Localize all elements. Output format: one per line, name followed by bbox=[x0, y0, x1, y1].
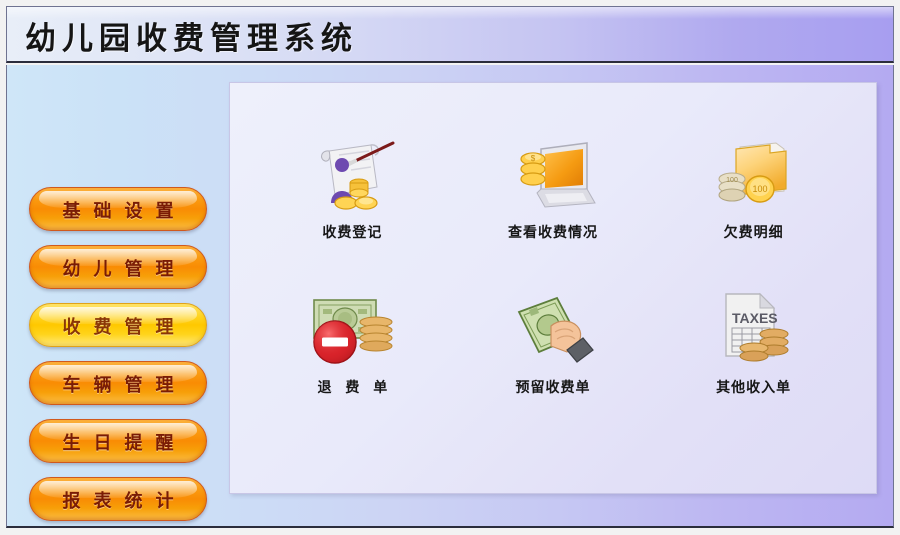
taxes-document-coins-icon: TAXES bbox=[653, 290, 854, 368]
app-icon-label: 查看收费情况 bbox=[453, 222, 654, 242]
sidebar-item-label: 车 辆 管 理 bbox=[30, 371, 206, 397]
app-icon-fee-registration[interactable]: 收费登记 bbox=[252, 135, 453, 242]
app-icon-label: 其他收入单 bbox=[653, 377, 854, 397]
laptop-coins-icon: $ bbox=[453, 135, 654, 213]
sidebar-item-basic-settings[interactable]: 基 础 设 置 bbox=[29, 187, 207, 231]
sidebar-item-child-management[interactable]: 幼 儿 管 理 bbox=[29, 245, 207, 289]
sidebar-item-label: 幼 儿 管 理 bbox=[30, 255, 206, 281]
svg-text:$: $ bbox=[531, 154, 536, 163]
hand-banknote-icon bbox=[453, 290, 654, 368]
taxes-label: TAXES bbox=[732, 310, 778, 326]
application-window: 幼儿园收费管理系统 基 础 设 置 幼 儿 管 理 收 费 管 理 车 辆 管 … bbox=[0, 0, 900, 535]
folder-coins-icon: 100 100 bbox=[653, 135, 854, 213]
sidebar-item-birthday-reminder[interactable]: 生 日 提 醒 bbox=[29, 419, 207, 463]
sidebar-item-label: 生 日 提 醒 bbox=[30, 429, 206, 455]
sidebar-item-label: 收 费 管 理 bbox=[30, 313, 206, 339]
app-icon-refund-form[interactable]: 退 费 单 bbox=[252, 290, 453, 397]
svg-text:100: 100 bbox=[726, 177, 738, 184]
page-title: 幼儿园收费管理系统 bbox=[25, 13, 358, 58]
content-panel: 收费登记 bbox=[229, 82, 877, 494]
app-icon-label: 收费登记 bbox=[252, 222, 453, 242]
app-icon-label: 预留收费单 bbox=[453, 377, 654, 397]
scroll-person-coins-icon bbox=[252, 135, 453, 213]
app-icon-other-income-form[interactable]: TAXES bbox=[653, 290, 854, 397]
sidebar-item-report-statistics[interactable]: 报 表 统 计 bbox=[29, 477, 207, 521]
sidebar-item-vehicle-management[interactable]: 车 辆 管 理 bbox=[29, 361, 207, 405]
sidebar-item-label: 基 础 设 置 bbox=[30, 197, 206, 223]
app-icon-arrears-details[interactable]: 100 100 欠费明细 bbox=[653, 135, 854, 242]
app-icon-label: 退 费 单 bbox=[252, 377, 453, 397]
icon-grid: 收费登记 bbox=[252, 135, 854, 397]
title-bar: 幼儿园收费管理系统 bbox=[6, 6, 894, 63]
svg-text:100: 100 bbox=[752, 184, 767, 194]
sidebar-item-label: 报 表 统 计 bbox=[30, 487, 206, 513]
app-icon-label: 欠费明细 bbox=[653, 222, 854, 242]
sidebar: 基 础 设 置 幼 儿 管 理 收 费 管 理 车 辆 管 理 生 日 提 醒 bbox=[7, 65, 223, 526]
banknote-coins-deny-icon bbox=[252, 290, 453, 368]
app-icon-reserved-fee-form[interactable]: 预留收费单 bbox=[453, 290, 654, 397]
body-area: 基 础 设 置 幼 儿 管 理 收 费 管 理 车 辆 管 理 生 日 提 醒 bbox=[6, 65, 894, 528]
app-icon-view-fee-status[interactable]: $ 查看收费情况 bbox=[453, 135, 654, 242]
sidebar-item-fee-management[interactable]: 收 费 管 理 bbox=[29, 303, 207, 347]
